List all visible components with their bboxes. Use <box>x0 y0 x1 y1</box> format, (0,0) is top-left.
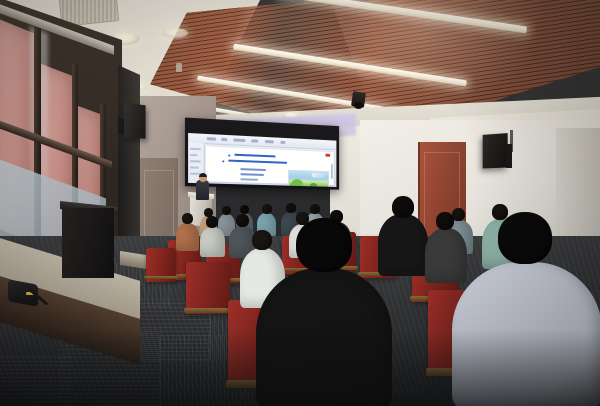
presenter-hair <box>199 173 207 177</box>
audience-member-torso <box>425 228 467 283</box>
floor-shadow <box>0 330 600 406</box>
audience-member-head <box>498 212 552 264</box>
audience-member-head <box>262 204 272 214</box>
audience-member-head <box>222 206 231 215</box>
document-image-highlight <box>312 173 325 178</box>
audience-member-head <box>240 205 249 214</box>
sprinkler-icon <box>176 63 182 72</box>
audience-member-head <box>236 214 249 227</box>
audience-member-head <box>182 213 193 224</box>
seat-armrest <box>144 276 178 279</box>
conference-room-photo: Conference room lecture in progress <box>0 0 600 406</box>
wall-speaker-left <box>124 103 146 139</box>
theater-seat <box>186 262 230 314</box>
audience-member-torso <box>200 227 225 257</box>
audience-member-head <box>252 230 272 250</box>
wall-speaker-right <box>483 133 508 168</box>
audience-member-head <box>436 212 454 230</box>
document-scrollbar[interactable] <box>331 164 333 180</box>
presenter-body <box>196 180 209 200</box>
av-cabinet <box>62 208 114 278</box>
projection-screen <box>188 133 336 187</box>
audience-member-head <box>206 216 218 228</box>
audience-member-torso <box>176 223 199 251</box>
audience-member-torso <box>378 214 428 276</box>
audience-member-head <box>392 196 414 218</box>
document-page <box>206 146 334 185</box>
audience-member-head <box>310 204 320 214</box>
document-red-marker <box>325 154 330 157</box>
audience-member-head <box>296 218 352 272</box>
audience-member-head <box>286 203 296 213</box>
ceiling-camera-lens <box>354 102 363 109</box>
downlight-2 <box>162 28 188 38</box>
speaker-bracket-right <box>506 144 512 168</box>
seat-armrest <box>184 308 232 313</box>
